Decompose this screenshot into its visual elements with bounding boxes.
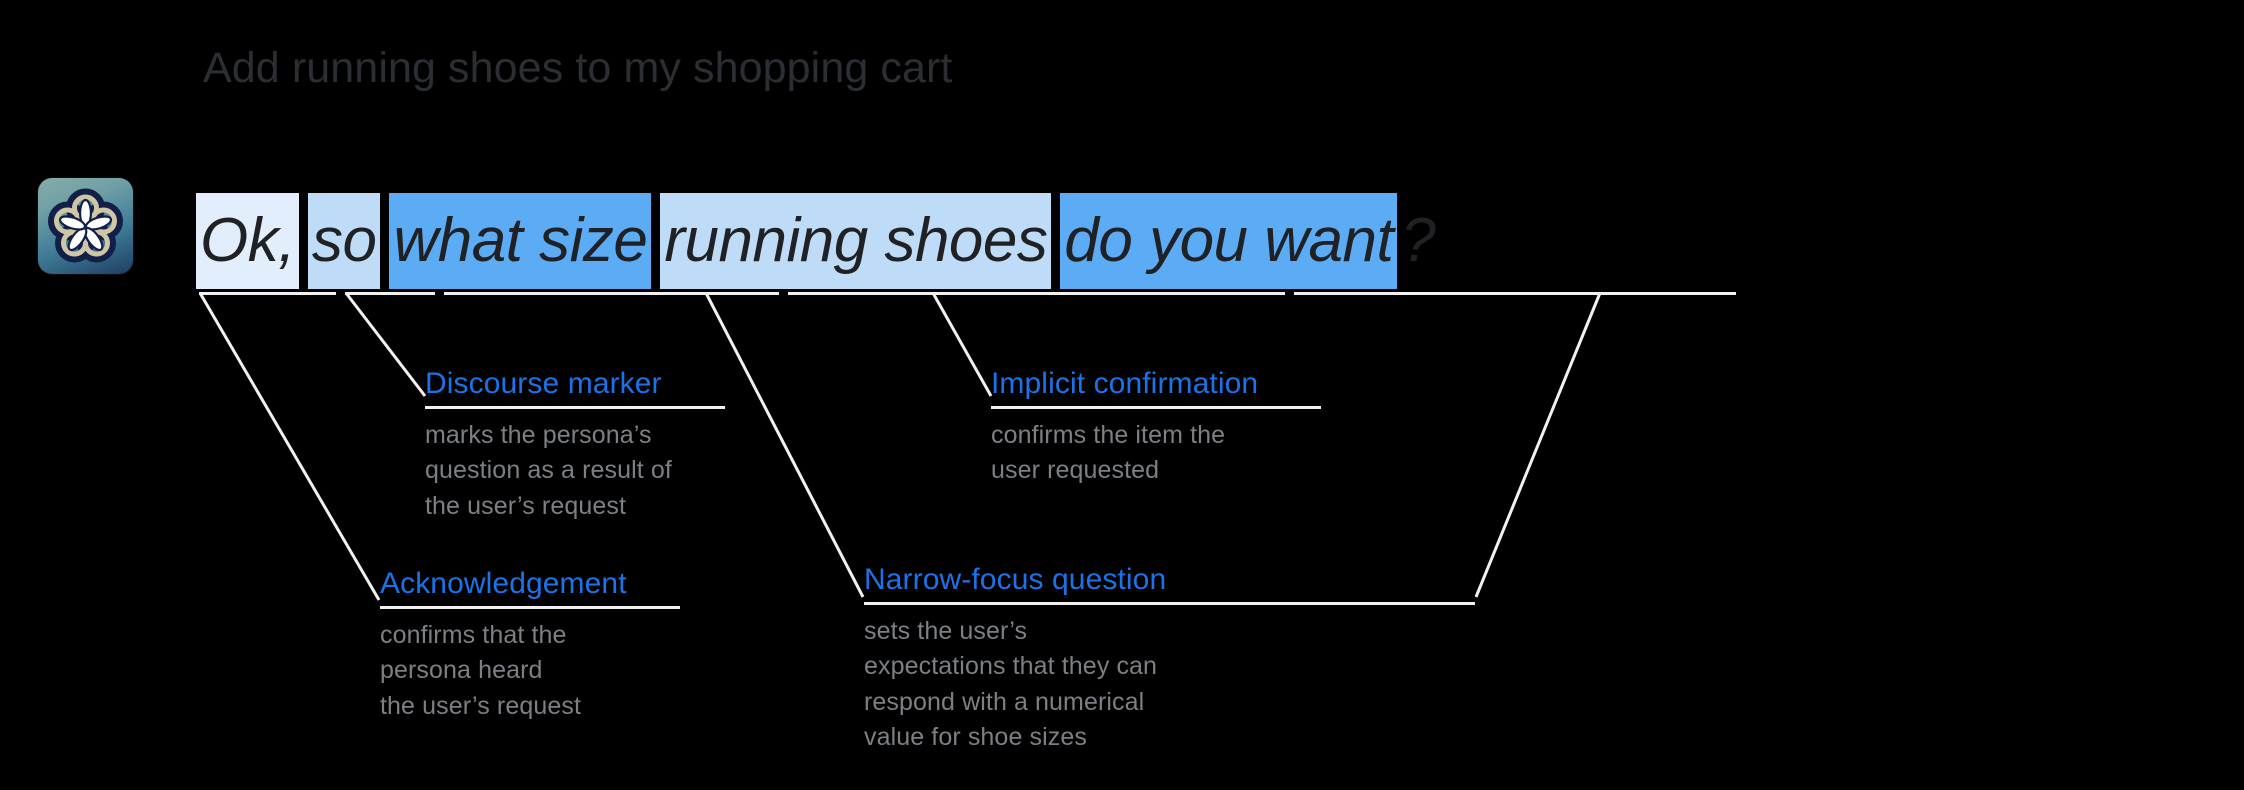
annotation-body: confirms the item the user requested [991,418,1321,489]
chunk-rule-running-shoes [788,292,1285,295]
annotation-acknowledgement: Acknowledgement confirms that the person… [380,567,680,724]
utterance-chunk-do-you-want[interactable]: do you want [1060,193,1397,289]
connector-doyouwant-to-narrow-focus [1476,293,1600,597]
chunk-rule-what-size [444,292,779,295]
chunk-rule-so [345,292,435,295]
chunk-rule-ok [199,292,336,295]
connector-runningshoes-to-implicit-confirmation [933,293,991,396]
annotation-heading: Discourse marker [425,367,725,402]
annotation-rule [864,602,1475,605]
utterance-chunk-ok[interactable]: Ok, [196,193,299,289]
annotation-rule [380,606,680,609]
annotation-implicit-confirmation: Implicit confirmation confirms the item … [991,367,1321,489]
annotation-discourse-marker: Discourse marker marks the persona’s que… [425,367,725,524]
annotation-rule [991,406,1321,409]
annotation-body: confirms that the persona heard the user… [380,618,680,725]
utterance-chunk-what-size[interactable]: what size [389,193,651,289]
annotation-heading: Implicit confirmation [991,367,1321,402]
connector-ok-to-acknowledgement [200,293,379,600]
user-prompt-title: Add running shoes to my shopping cart [203,44,952,92]
annotation-rule [425,406,725,409]
utterance-chunk-running-shoes[interactable]: running shoes [660,193,1051,289]
connector-so-to-discourse-marker [346,293,425,396]
chunk-rule-do-you-want [1294,292,1736,295]
annotation-body: sets the user’s expectations that they c… [864,614,1475,756]
persona-utterance: Ok, so what size running shoes do you wa… [196,193,1439,289]
annotation-narrow-focus-question: Narrow-focus question sets the user’s ex… [864,563,1475,756]
annotation-heading: Acknowledgement [380,567,680,602]
utterance-chunk-so[interactable]: so [308,193,380,289]
annotation-heading: Narrow-focus question [864,563,1475,598]
flower-rosette-icon [38,178,133,274]
utterance-chunk-question-mark: ? [1397,193,1439,289]
persona-avatar [38,178,133,274]
connector-whatsize-to-narrow-focus [706,293,863,597]
annotated-dialogue-diagram: Add running shoes to my shopping cart [0,0,2244,790]
annotation-body: marks the persona’s question as a result… [425,418,725,525]
